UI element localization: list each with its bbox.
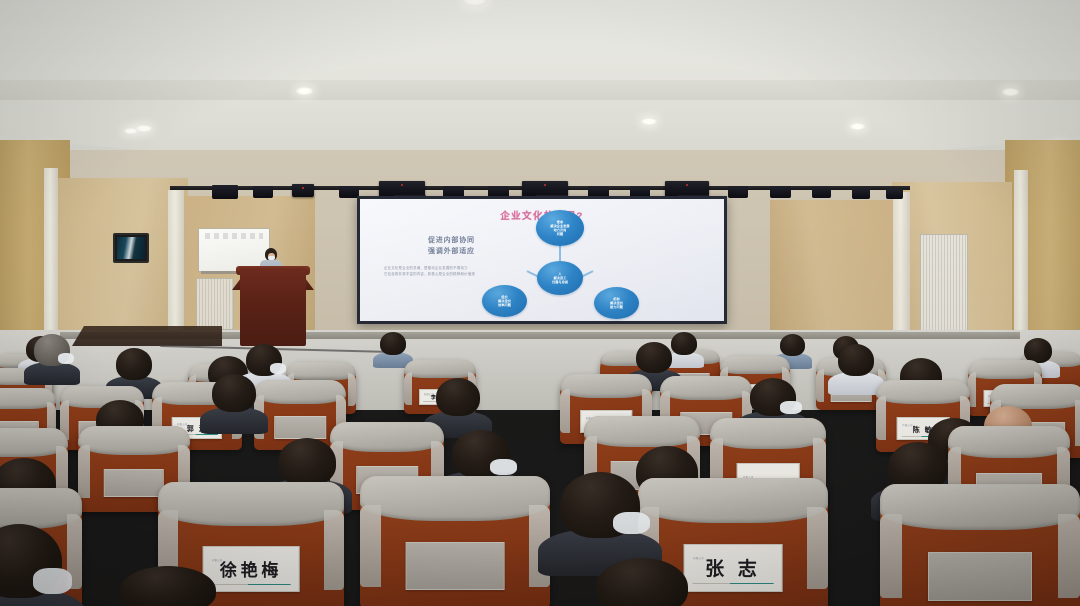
- ceiling-speaker: [339, 186, 359, 198]
- diagram-node-right-text: 机制 解决组织 能力问题: [610, 297, 623, 310]
- seat-headrest: [560, 374, 652, 398]
- attendee-head: [120, 566, 216, 606]
- ceiling-downlight: [850, 123, 865, 130]
- conference-hall-photo: 企业文化的作用? 促进内部协同 强调外部适应 企业文化是企业的灵魂，是推动企业发…: [0, 0, 1080, 606]
- ceiling-speaker: [253, 186, 273, 198]
- face-mask-icon: [270, 363, 287, 374]
- face-mask-icon: [490, 459, 517, 475]
- seat-headrest: [660, 376, 752, 400]
- attendee: [560, 472, 640, 538]
- attendee: [246, 344, 282, 376]
- attendee: [750, 378, 796, 416]
- diagram-node-right: 机制 解决组织 能力问题: [594, 287, 639, 319]
- wall-monitor-left: [113, 233, 149, 263]
- seat-name-card-holder: [104, 469, 164, 497]
- seat-headrest: [158, 482, 344, 526]
- face-mask-icon: [780, 401, 801, 414]
- attendee: [671, 332, 697, 355]
- attendee: [212, 374, 256, 412]
- ceiling-downlight: [296, 87, 313, 95]
- diagram-node-left: 组织 解决组织 效率问题: [482, 285, 527, 317]
- attendee-head: [278, 438, 336, 486]
- attendee-head: [212, 374, 256, 412]
- attendee-head: [636, 342, 672, 373]
- attendee-head: [780, 334, 805, 356]
- face-mask-icon: [58, 353, 75, 364]
- attendee-head: [436, 378, 480, 416]
- radiator-right-wall: [920, 234, 968, 332]
- seat-headrest: [710, 418, 826, 449]
- ceiling-speaker: [886, 189, 903, 199]
- attendee-head: [671, 332, 697, 355]
- attendee-head: [116, 348, 152, 380]
- seat-name-card: 有限公司 徐艳梅: [203, 546, 300, 592]
- seat-headrest: [638, 478, 828, 523]
- auditorium-seat[interactable]: [880, 484, 1080, 606]
- diagram-node-left-text: 组织 解决组织 效率问题: [498, 295, 511, 308]
- attendee: [116, 348, 152, 380]
- ceiling-recess-band: [0, 80, 1080, 100]
- seat-headrest: [254, 380, 346, 404]
- attendee: [838, 344, 874, 376]
- ceiling-downlight: [136, 125, 152, 132]
- seat-name-card-holder: [406, 542, 505, 590]
- attendee: [780, 334, 805, 356]
- seat-headrest: [720, 356, 790, 374]
- seat-headrest: [78, 426, 190, 455]
- ceiling-speaker: [770, 186, 791, 198]
- attendee-head: [838, 344, 874, 376]
- slide-subtitle-line-1: 促进内部协同: [428, 235, 475, 246]
- name-card-name: 张 志: [685, 560, 782, 579]
- ceiling-downlight: [641, 118, 657, 125]
- attendee: [596, 558, 688, 606]
- radiator-left-wall: [196, 278, 234, 330]
- slide-subtitle-line-2: 强调外部适应: [428, 246, 475, 257]
- ceiling-speaker: [852, 188, 870, 199]
- attendee: [120, 566, 216, 606]
- attendee: [636, 342, 672, 373]
- projection-screen: 企业文化的作用? 促进内部协同 强调外部适应 企业文化是企业的灵魂，是推动企业发…: [357, 196, 727, 324]
- ceiling-speaker: [728, 186, 748, 198]
- attendee: [436, 378, 480, 416]
- seat-headrest: [330, 422, 444, 452]
- wall-pillar-right: [893, 192, 910, 350]
- face-mask-icon: [613, 512, 650, 534]
- seat-name-card-holder: [274, 416, 326, 438]
- seat-headrest: [880, 484, 1080, 530]
- ceiling-speaker-cluster: [292, 184, 314, 197]
- seat-headrest: [584, 416, 700, 447]
- ceiling-downlight: [1002, 88, 1019, 96]
- attendee: [278, 438, 336, 486]
- seat-headrest: [404, 360, 476, 378]
- diagram-node-top: 使命 解决企业发展 动力方向 问题: [536, 210, 584, 246]
- face-mask-icon: [33, 568, 73, 593]
- name-card-name: 徐艳梅: [204, 562, 299, 579]
- seat-headrest: [968, 360, 1042, 379]
- monitor-image: [117, 237, 145, 259]
- attendee-with-glasses: [34, 334, 70, 366]
- slide-canvas: 企业文化的作用? 促进内部协同 强调外部适应 企业文化是企业的灵魂，是推动企业发…: [360, 199, 724, 321]
- audience-seating: 有限公司 有限公司 李建国 有限公司: [0, 330, 1080, 606]
- diagram-node-center-text: 人 解决员工 归属与忠诚: [552, 272, 568, 285]
- seat-headrest: [948, 426, 1070, 458]
- seat-headrest: [876, 380, 970, 404]
- attendee: [452, 430, 510, 478]
- seat-name-card: 有限公司 张 志: [684, 544, 783, 592]
- ceiling-speaker: [212, 185, 238, 199]
- ceiling-speaker: [812, 187, 831, 198]
- diagram-node-top-text: 使命 解决企业发展 动力方向 问题: [550, 220, 569, 237]
- seat-name-card-holder: [928, 552, 1032, 601]
- seat-headrest: [286, 362, 356, 380]
- auditorium-seat[interactable]: [360, 476, 550, 606]
- diagram-node-center: 人 解决员工 归属与忠诚: [537, 261, 583, 295]
- attendee-head: [596, 558, 688, 606]
- slide-subtitle: 促进内部协同 强调外部适应: [428, 235, 475, 257]
- ceiling-downlight: [124, 128, 138, 134]
- attendee-head: [380, 332, 406, 355]
- attendee: [0, 524, 62, 598]
- seat-headrest: [360, 476, 550, 521]
- whiteboard-writing: [205, 233, 263, 239]
- attendee: [380, 332, 406, 355]
